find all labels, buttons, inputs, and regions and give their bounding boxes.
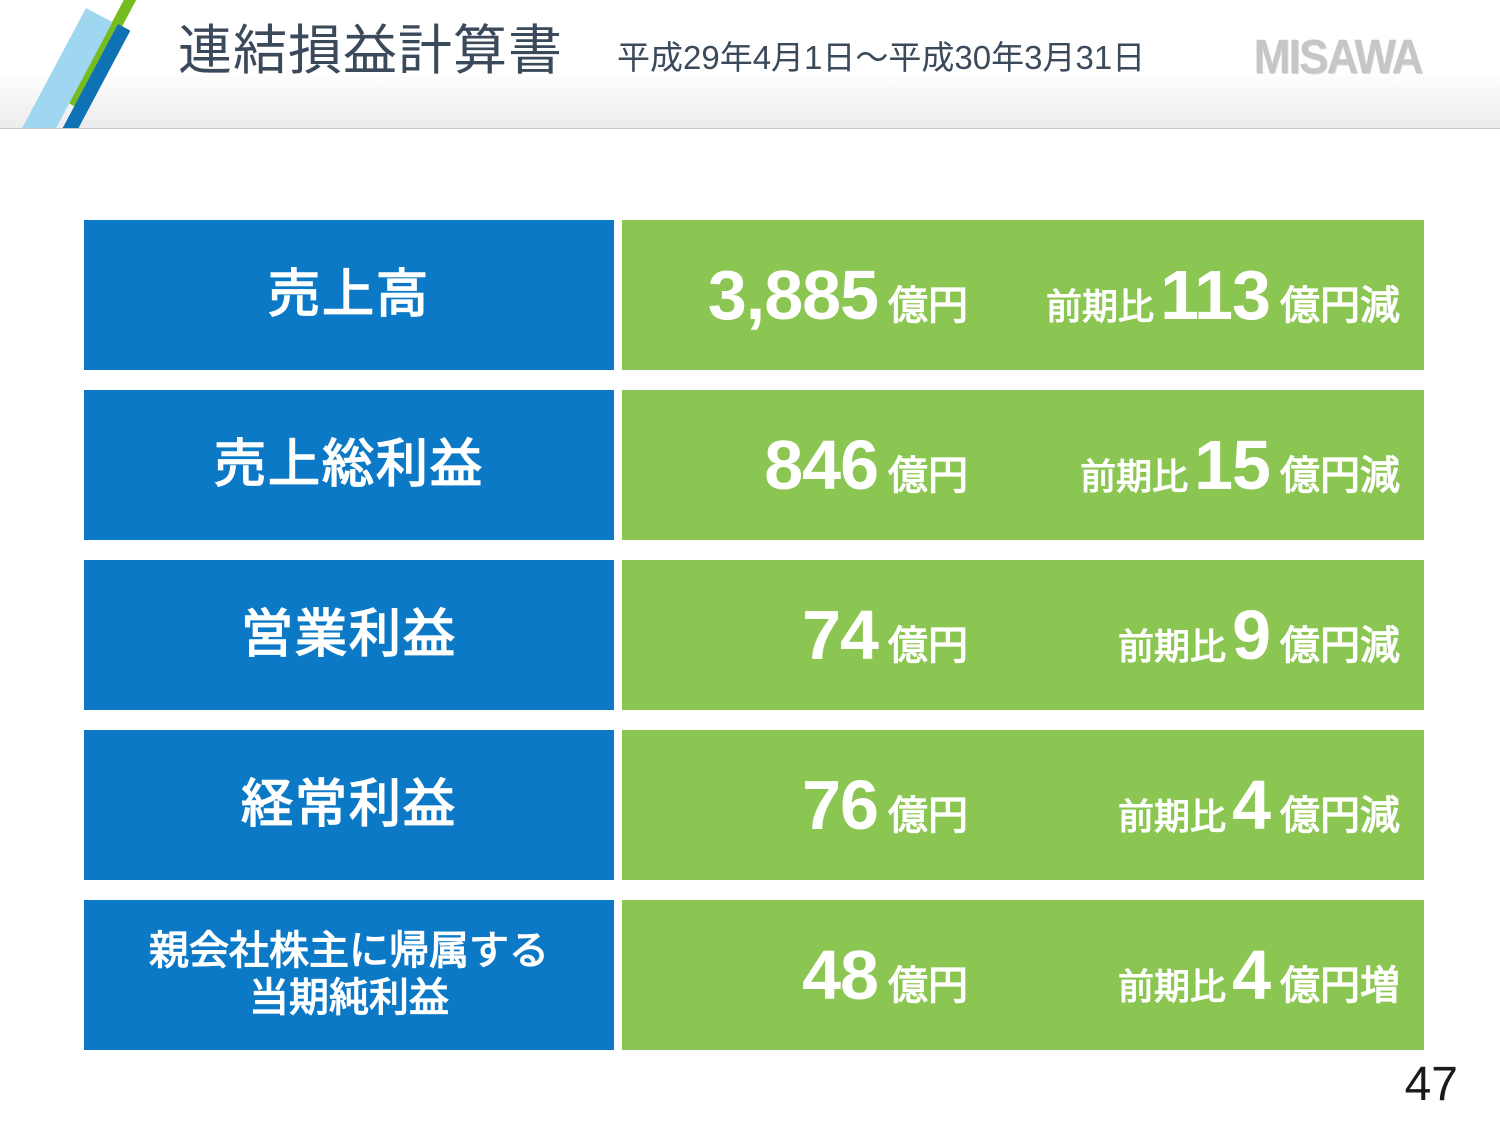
delta-group: 前期比 15 億円減	[968, 430, 1400, 500]
row-label-text: 経常利益	[241, 778, 457, 833]
row-value-cell: 76 億円 前期比 4 億円減	[622, 730, 1424, 880]
table-row: 営業利益 74 億円 前期比 9 億円減	[84, 560, 1424, 710]
amount-value: 3,885	[708, 260, 878, 330]
misawa-logo: MISAWA	[1254, 34, 1422, 82]
table-row: 売上高 3,885 億円 前期比 113 億円減	[84, 220, 1424, 370]
delta-value: 15	[1194, 430, 1270, 500]
delta-unit: 億円減	[1280, 626, 1400, 666]
amount-value: 76	[802, 770, 878, 840]
slide-header: 連結損益計算書 平成29年4月1日～平成30年3月31日 MISAWA	[0, 0, 1500, 129]
row-label-cell: 営業利益	[84, 560, 614, 710]
row-label-cell: 売上総利益	[84, 390, 614, 540]
financial-summary-table: 売上高 3,885 億円 前期比 113 億円減 売上総利益 846 億円 前期…	[84, 220, 1424, 1050]
delta-value: 113	[1160, 260, 1270, 330]
row-value-cell: 846 億円 前期比 15 億円減	[622, 390, 1424, 540]
table-row: 親会社株主に帰属する 当期純利益 48 億円 前期比 4 億円増	[84, 900, 1424, 1050]
row-label-cell: 経常利益	[84, 730, 614, 880]
compare-label: 前期比	[1080, 459, 1188, 495]
table-row: 売上総利益 846 億円 前期比 15 億円減	[84, 390, 1424, 540]
amount-group: 48 億円	[638, 940, 968, 1010]
amount-group: 3,885 億円	[638, 260, 968, 330]
header-title-group: 連結損益計算書 平成29年4月1日～平成30年3月31日	[178, 24, 1145, 78]
amount-group: 76 億円	[638, 770, 968, 840]
delta-unit: 億円減	[1280, 286, 1400, 326]
row-label-cell: 親会社株主に帰属する 当期純利益	[84, 900, 614, 1050]
row-label-text: 親会社株主に帰属する 当期純利益	[149, 928, 549, 1022]
delta-value: 4	[1232, 770, 1270, 840]
delta-unit: 億円減	[1280, 796, 1400, 836]
delta-group: 前期比 4 億円減	[968, 770, 1400, 840]
delta-value: 4	[1232, 940, 1270, 1010]
amount-unit: 億円	[888, 966, 968, 1006]
page-subtitle-period: 平成29年4月1日～平成30年3月31日	[617, 41, 1145, 74]
row-label-text: 営業利益	[241, 608, 457, 663]
amount-value: 48	[802, 940, 878, 1010]
delta-group: 前期比 9 億円減	[968, 600, 1400, 670]
compare-label: 前期比	[1046, 289, 1154, 325]
amount-unit: 億円	[888, 456, 968, 496]
delta-group: 前期比 113 億円減	[968, 260, 1400, 330]
delta-unit: 億円増	[1280, 966, 1400, 1006]
compare-label: 前期比	[1118, 629, 1226, 665]
delta-value: 9	[1232, 600, 1270, 670]
amount-unit: 億円	[888, 626, 968, 666]
amount-unit: 億円	[888, 796, 968, 836]
row-label-text: 売上総利益	[214, 438, 484, 493]
amount-value: 846	[764, 430, 878, 500]
amount-unit: 億円	[888, 286, 968, 326]
delta-group: 前期比 4 億円増	[968, 940, 1400, 1010]
page-title: 連結損益計算書	[178, 24, 563, 78]
amount-group: 846 億円	[638, 430, 968, 500]
row-value-cell: 48 億円 前期比 4 億円増	[622, 900, 1424, 1050]
amount-group: 74 億円	[638, 600, 968, 670]
row-value-cell: 74 億円 前期比 9 億円減	[622, 560, 1424, 710]
table-row: 経常利益 76 億円 前期比 4 億円減	[84, 730, 1424, 880]
compare-label: 前期比	[1118, 969, 1226, 1005]
delta-unit: 億円減	[1280, 456, 1400, 496]
amount-value: 74	[802, 600, 878, 670]
row-value-cell: 3,885 億円 前期比 113 億円減	[622, 220, 1424, 370]
compare-label: 前期比	[1118, 799, 1226, 835]
row-label-text: 売上高	[268, 268, 430, 323]
page-number: 47	[1405, 1061, 1458, 1109]
row-label-cell: 売上高	[84, 220, 614, 370]
